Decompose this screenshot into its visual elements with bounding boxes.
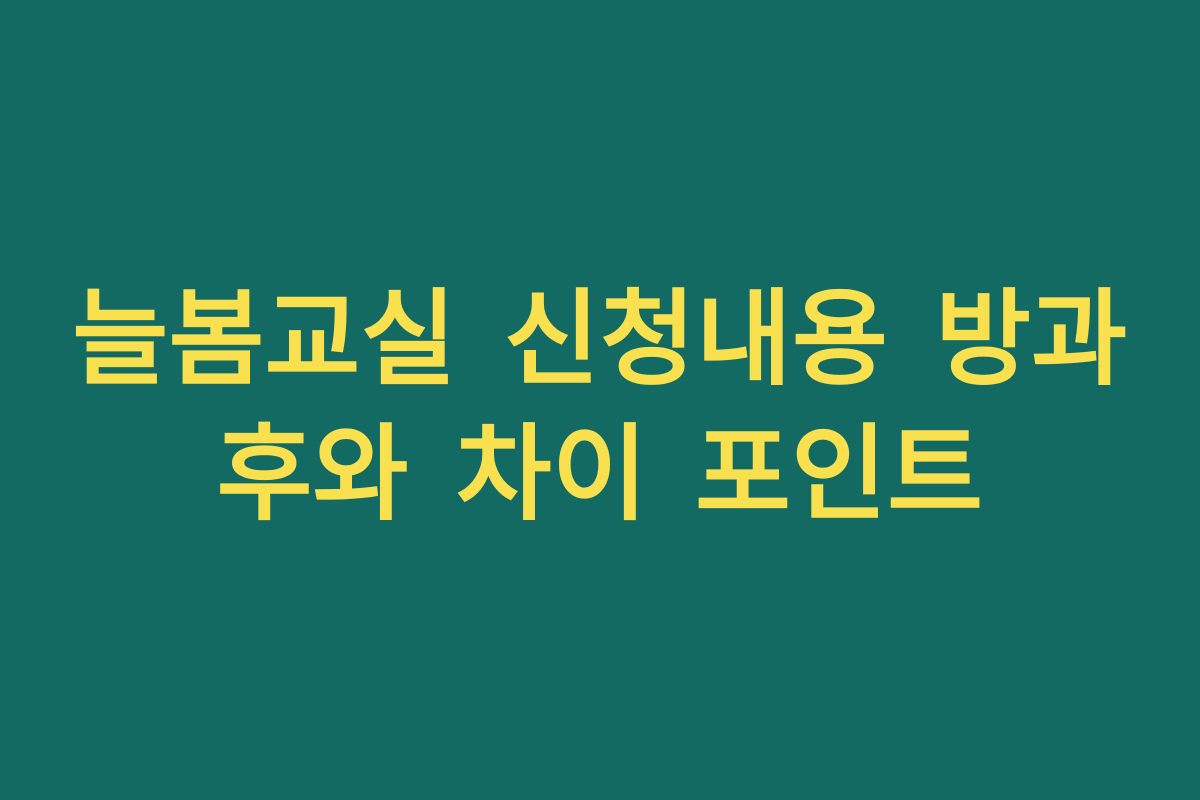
title-line-1: 늘봄교실 신청내용 방과: [70, 272, 1130, 407]
title-line-2: 후와 차이 포인트: [70, 407, 1130, 542]
title-banner: 늘봄교실 신청내용 방과 후와 차이 포인트: [0, 0, 1200, 800]
page-title: 늘봄교실 신청내용 방과 후와 차이 포인트: [70, 258, 1130, 542]
